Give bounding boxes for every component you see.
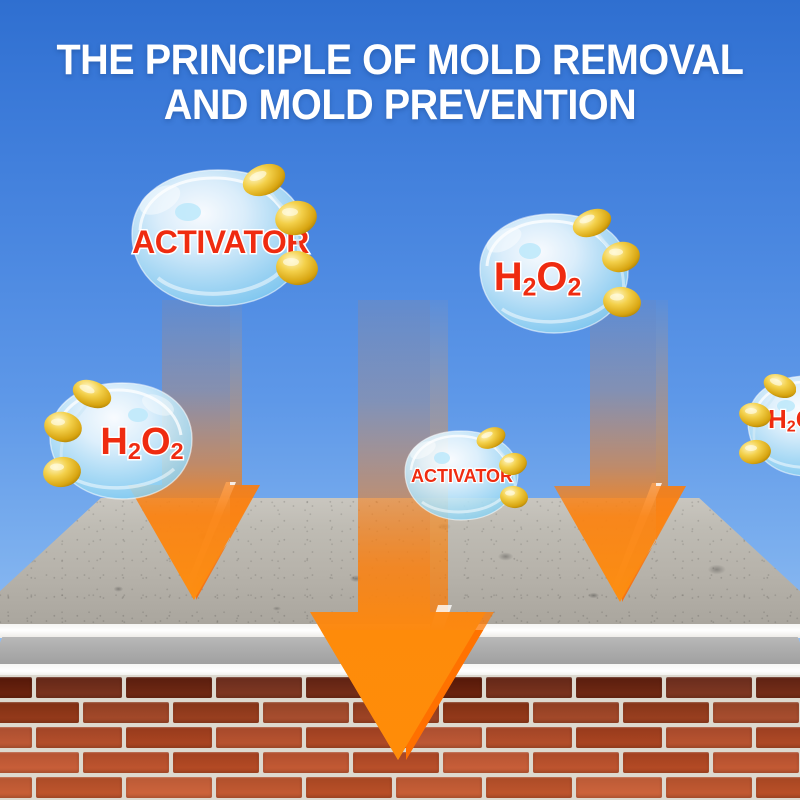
brick [216, 677, 302, 698]
brick [0, 702, 79, 723]
bubble-h2o2-right-edge: H2O2 [736, 368, 800, 484]
brick [0, 677, 32, 698]
white-gap-layer-1 [0, 624, 800, 638]
brick [173, 702, 259, 723]
brick [306, 677, 392, 698]
brick [756, 727, 800, 748]
brick-row [0, 700, 800, 725]
brick [263, 702, 349, 723]
brick [666, 777, 752, 798]
brick [396, 677, 482, 698]
brick [396, 727, 482, 748]
brick [126, 677, 212, 698]
brick [306, 777, 392, 798]
brick [0, 752, 79, 773]
brick [36, 777, 122, 798]
brick [353, 752, 439, 773]
infographic-canvas: THE PRINCIPLE OF MOLD REMOVAL AND MOLD P… [0, 0, 800, 800]
brick [576, 677, 662, 698]
brick [756, 677, 800, 698]
brick [623, 752, 709, 773]
brick-row [0, 725, 800, 750]
brick [623, 702, 709, 723]
capsule-cluster [242, 162, 328, 312]
brick [576, 727, 662, 748]
brick [0, 727, 32, 748]
brick [486, 727, 572, 748]
brick [216, 777, 302, 798]
bubble-activator-top-left: ACTIVATOR [118, 160, 323, 320]
capsule-cluster [734, 372, 796, 480]
brick-row [0, 675, 800, 700]
capsule-cluster [476, 426, 536, 524]
brick [0, 777, 32, 798]
brick [756, 777, 800, 798]
brick-row [0, 750, 800, 775]
brick [666, 677, 752, 698]
bubble-h2o2-mid-left: H2O2 [36, 375, 204, 510]
brick [36, 677, 122, 698]
brick [216, 727, 302, 748]
title-line-2: AND MOLD PREVENTION [32, 83, 768, 128]
brick [396, 777, 482, 798]
brick [666, 727, 752, 748]
brick [83, 752, 169, 773]
brick [353, 702, 439, 723]
brick [126, 727, 212, 748]
bubble-activator-center: ACTIVATOR [396, 424, 528, 528]
brick [263, 752, 349, 773]
brick [36, 727, 122, 748]
brick [486, 777, 572, 798]
brick [306, 727, 392, 748]
brick [83, 702, 169, 723]
capsule-cluster [34, 377, 114, 505]
brick [486, 677, 572, 698]
capsule-cluster [572, 207, 652, 339]
brick [533, 702, 619, 723]
gray-substrate-layer [0, 637, 800, 667]
title-line-1: THE PRINCIPLE OF MOLD REMOVAL [32, 38, 768, 83]
brick [443, 702, 529, 723]
brick [173, 752, 259, 773]
brick [713, 752, 799, 773]
brick [576, 777, 662, 798]
page-title: THE PRINCIPLE OF MOLD REMOVAL AND MOLD P… [0, 38, 800, 128]
brick-wall-layer [0, 675, 800, 800]
brick [533, 752, 619, 773]
brick [443, 752, 529, 773]
brick [713, 702, 799, 723]
bubble-h2o2-top-right: H2O2 [468, 205, 643, 345]
brick [126, 777, 212, 798]
brick-row [0, 775, 800, 800]
